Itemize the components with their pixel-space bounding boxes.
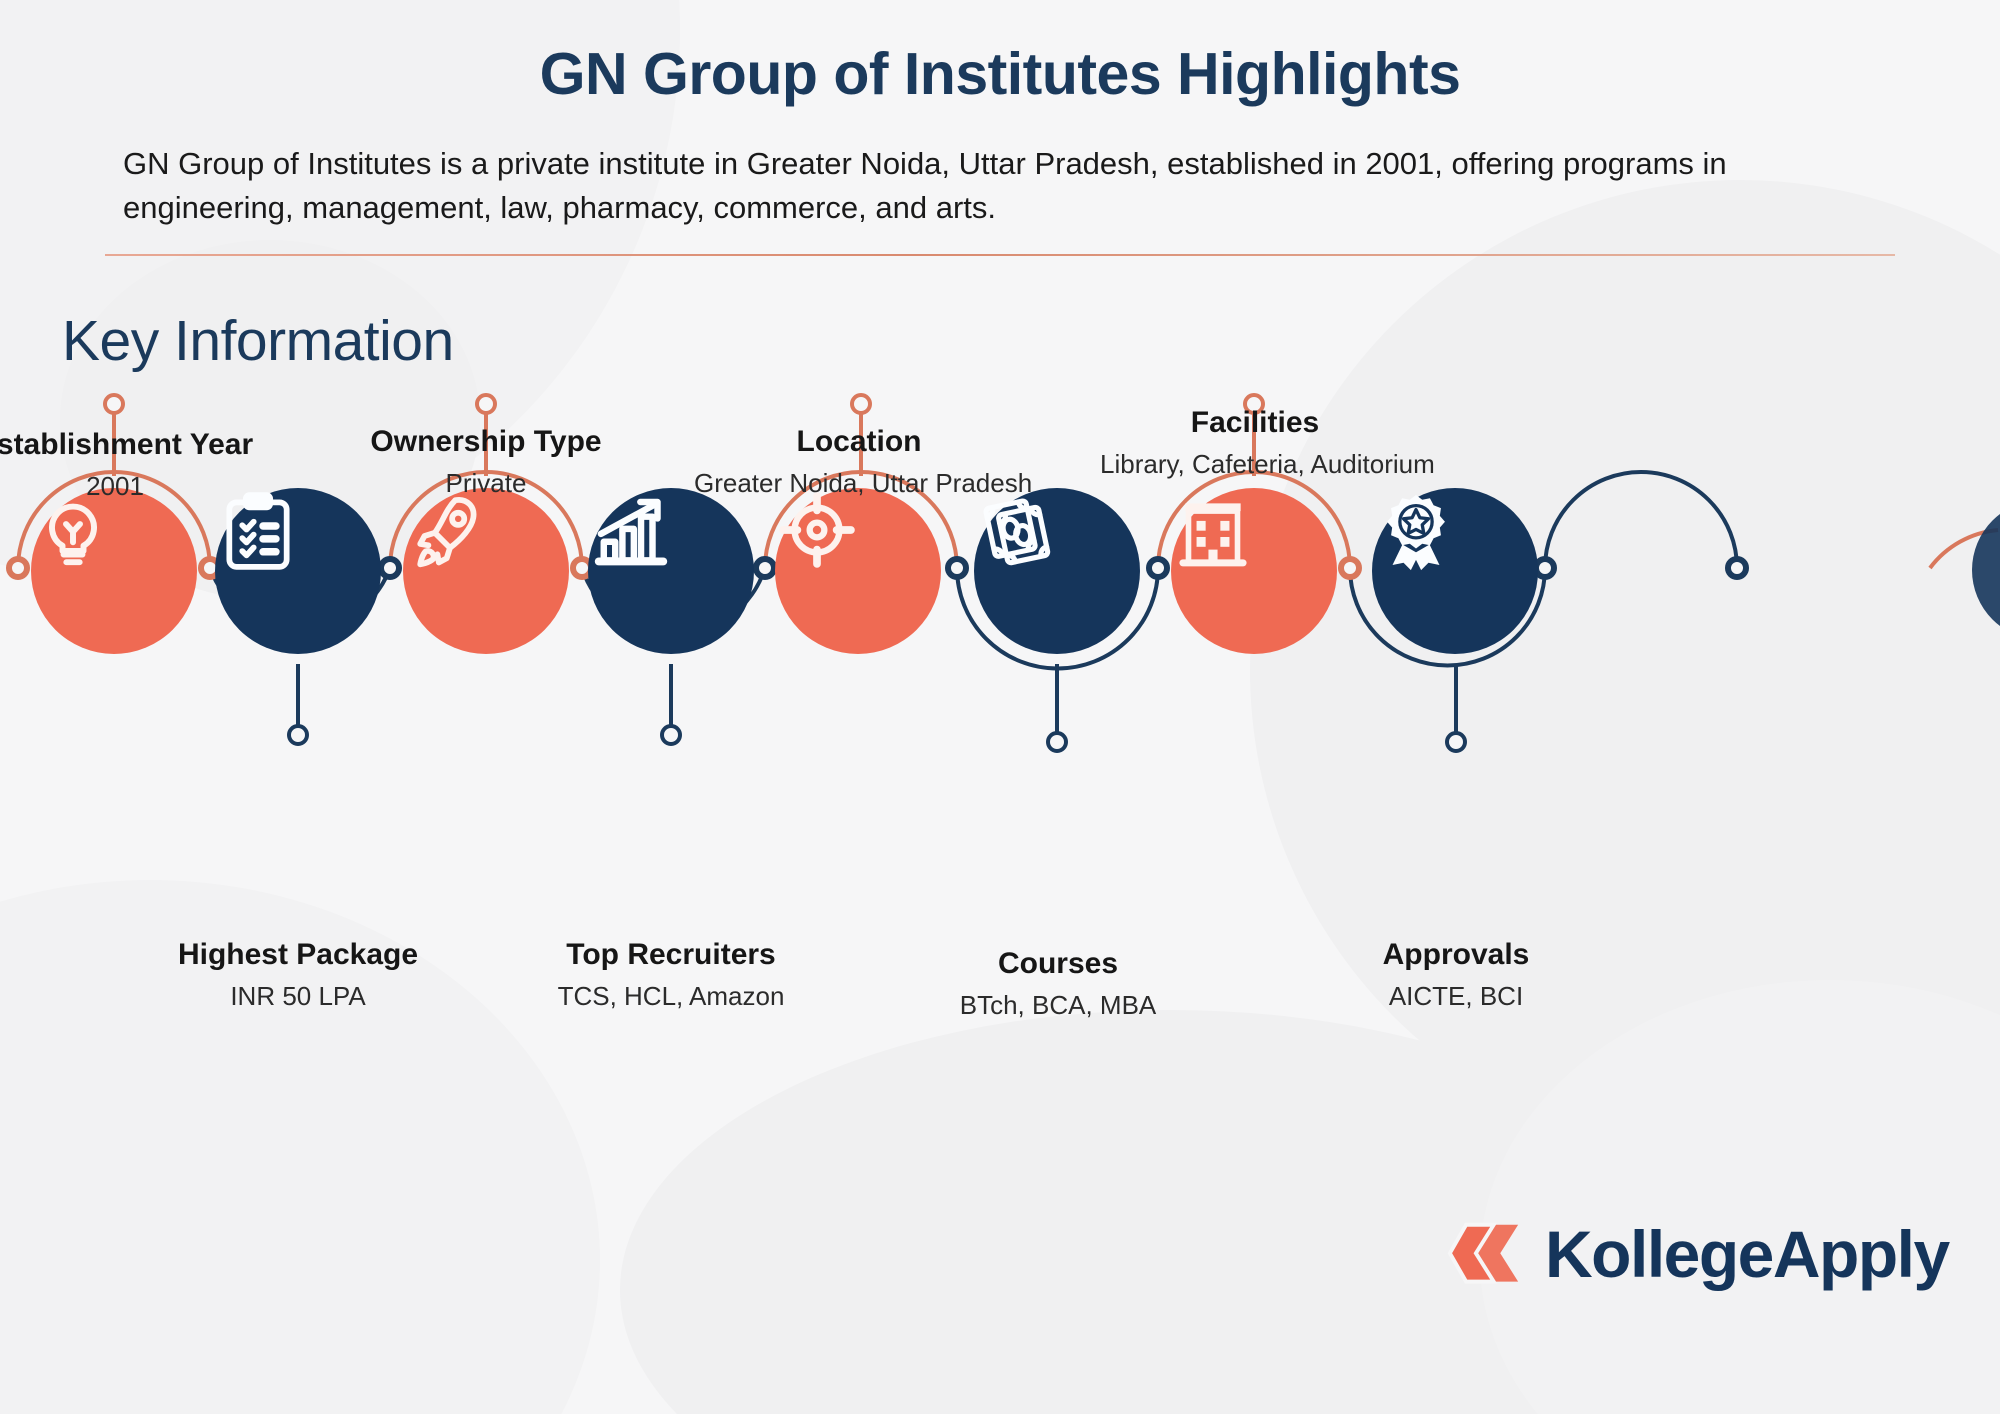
label-ownership-type: Ownership Type Private [336,425,636,499]
label-value: INR 50 LPA [148,981,448,1012]
page-subtitle: GN Group of Institutes is a private inst… [105,142,1895,230]
label-value: 2001 [0,471,265,502]
double-chevron-icon [1445,1215,1523,1293]
label-approvals: Approvals AICTE, BCI [1306,938,1606,1012]
kollegeapply-logo[interactable]: KollegeApply [1445,1215,1949,1293]
label-key: Ownership Type [336,425,636,459]
section-title: Key Information [62,308,454,374]
label-highest-package: Highest Package INR 50 LPA [148,938,448,1012]
header: GN Group of Institutes Highlights GN Gro… [0,0,2000,256]
infographic-canvas: GN Group of Institutes Highlights GN Gro… [0,0,2000,1414]
logo-wordmark: KollegeApply [1545,1216,1949,1292]
node-ownership-type[interactable] [403,488,569,654]
label-value: Greater Noida, Uttar Pradesh [694,468,1024,499]
label-key: Courses [908,947,1208,981]
label-value: Private [336,468,636,499]
node-establishment-year[interactable] [31,488,197,654]
label-key: Establishment Year [0,428,265,462]
label-key: Location [694,425,1024,459]
label-value: BTch, BCA, MBA [908,990,1208,1021]
label-courses: Courses BTch, BCA, MBA [908,947,1208,1021]
label-key: Approvals [1306,938,1606,972]
label-value: AICTE, BCI [1306,981,1606,1012]
label-establishment-year: Establishment Year 2001 [0,428,265,502]
node-facilities[interactable] [1171,488,1337,654]
node-highest-package[interactable] [215,488,381,654]
header-divider [105,254,1895,256]
label-key: Facilities [1100,406,1410,440]
node-courses[interactable] [974,488,1140,654]
label-key: Top Recruiters [521,938,821,972]
label-top-recruiters: Top Recruiters TCS, HCL, Amazon [521,938,821,1012]
label-value: TCS, HCL, Amazon [521,981,821,1012]
page-title: GN Group of Institutes Highlights [0,40,2000,108]
label-facilities: Facilities Library, Cafeteria, Auditoriu… [1100,406,1410,480]
label-key: Highest Package [148,938,448,972]
node-approvals[interactable] [1372,488,1538,654]
label-location: Location Greater Noida, Uttar Pradesh [694,425,1024,499]
node-top-recruiters[interactable] [588,488,754,654]
label-value: Library, Cafeteria, Auditorium [1100,449,1410,480]
node-location[interactable] [775,488,941,654]
